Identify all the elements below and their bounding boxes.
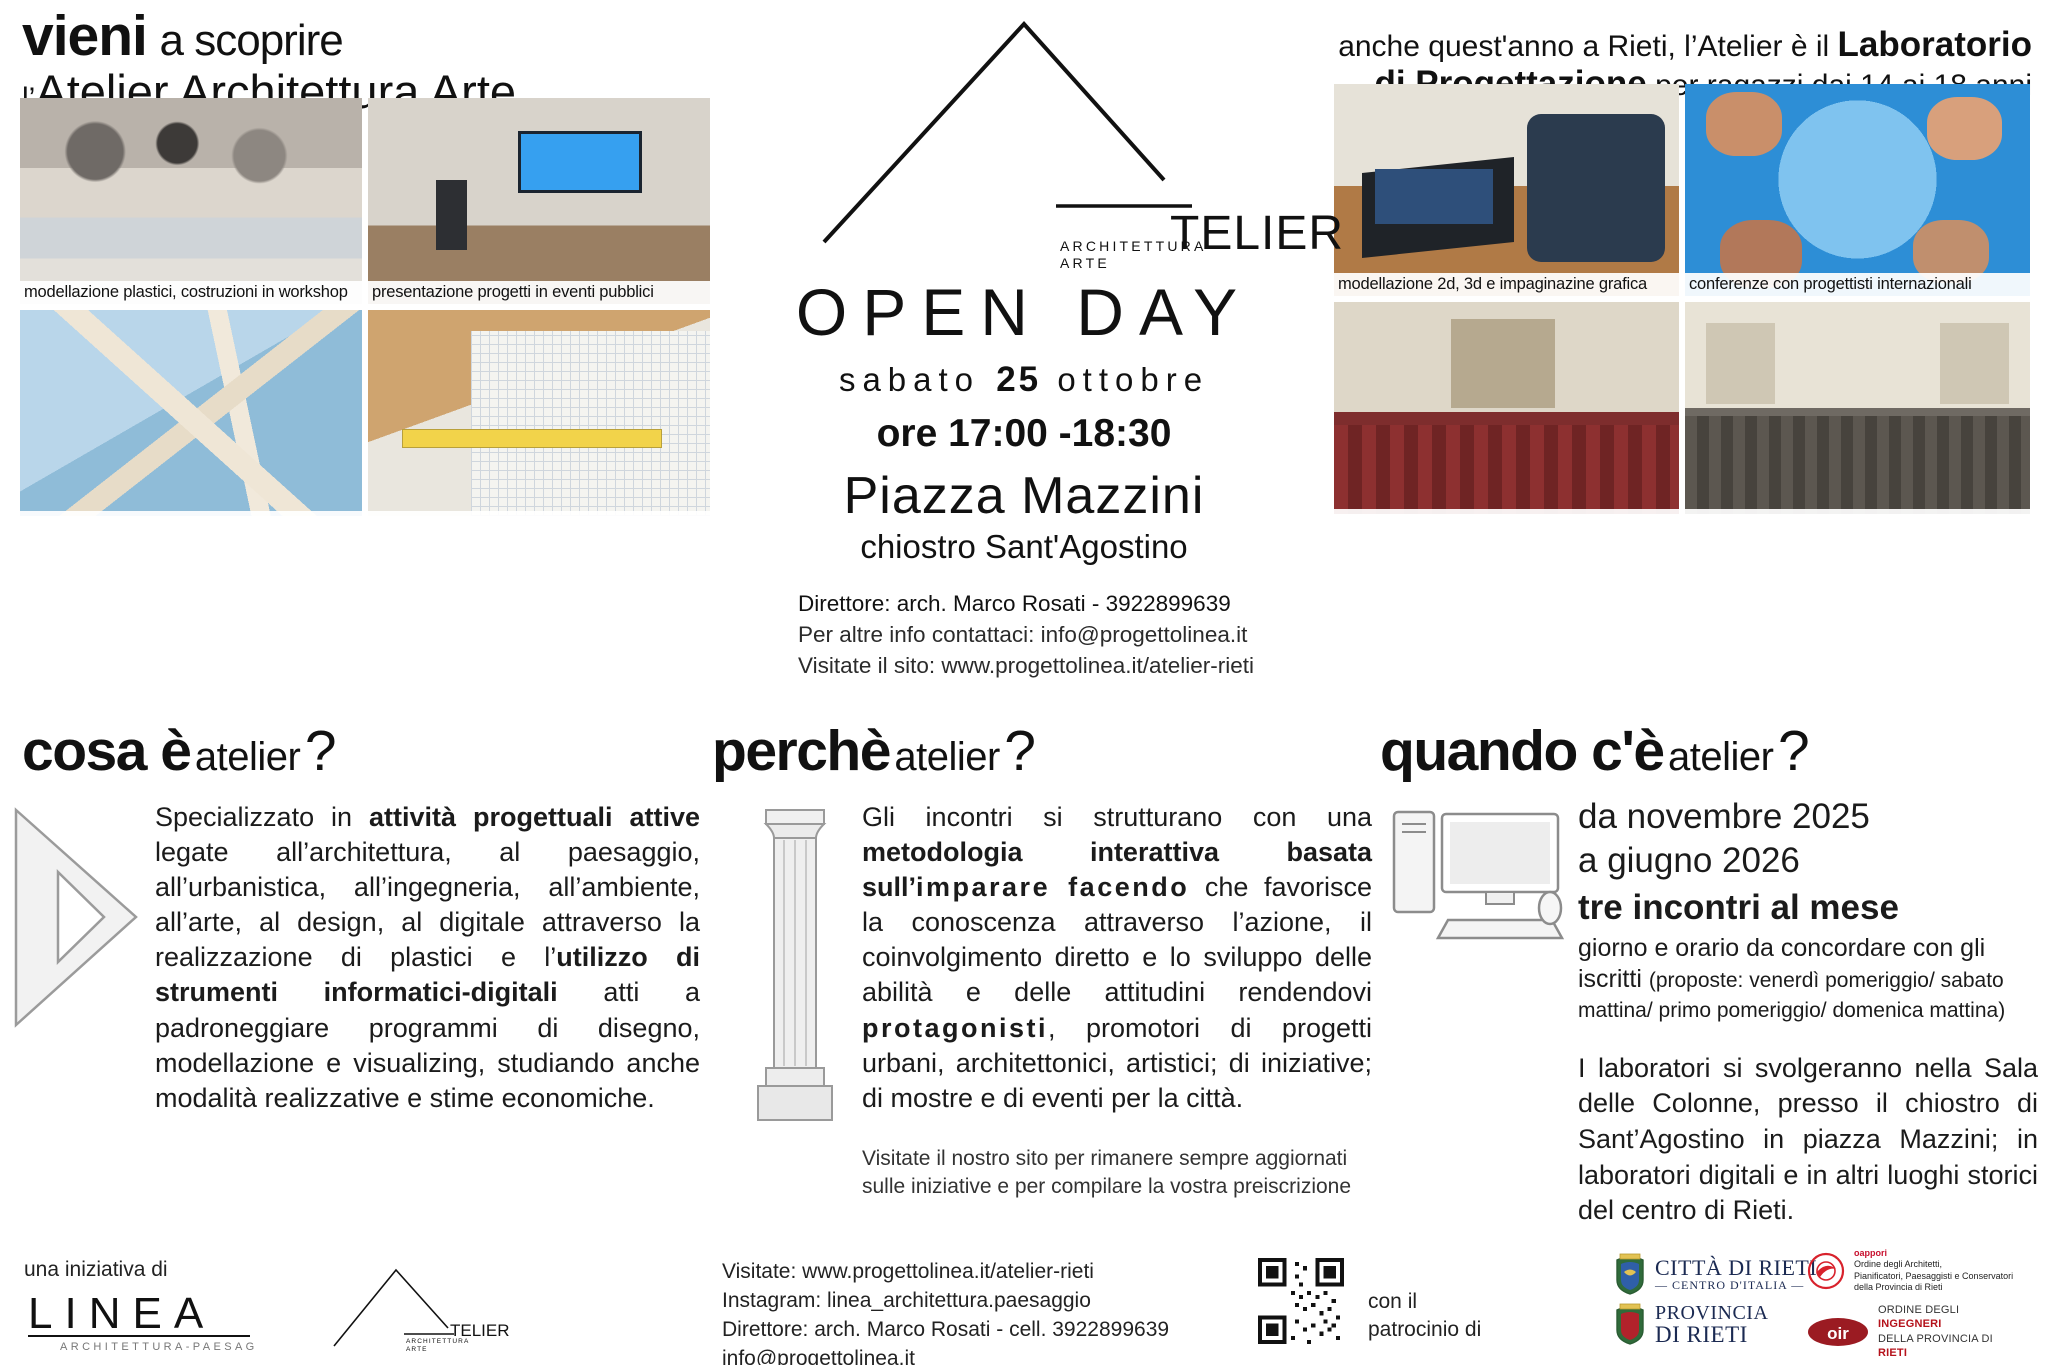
- column-perche-body: Gli incontri si strutturano con una meto…: [862, 800, 1372, 1116]
- photo-grid-left: modellazione plastici, costruzioni in wo…: [20, 98, 710, 516]
- center-contact-director: Direttore: arch. Marco Rosati - 39228996…: [798, 588, 1348, 619]
- footer-website: Visitate: www.progettolinea.it/atelier-r…: [722, 1258, 1169, 1287]
- atelier-logo-wordmark: TELIER: [1170, 206, 1344, 261]
- citta-logo-line-2: — CENTRO D'ITALIA —: [1655, 1279, 1817, 1291]
- provincia-logo-line-1: PROVINCIA: [1655, 1303, 1768, 1323]
- c3-period-line-1: da novembre 2025: [1578, 795, 2038, 839]
- svg-text:ARCHITETTURA-PAESAGGIO: ARCHITETTURA-PAESAGGIO: [60, 1341, 254, 1353]
- photo-conference-hall: [1685, 302, 2030, 514]
- section-heading-question-mark: ?: [1778, 719, 1810, 783]
- section-heading-big: quando c'è: [1380, 719, 1664, 783]
- footer-email: info@progettolinea.it: [722, 1345, 1169, 1365]
- svg-text:ARCHITETTURA: ARCHITETTURA: [406, 1338, 469, 1345]
- photo-caption: [368, 511, 710, 516]
- section-heading-question-mark: ?: [305, 719, 337, 783]
- headline-right-bold-1: Laboratorio: [1838, 25, 2032, 64]
- footer-contacts: Visitate: www.progettolinea.it/atelier-r…: [722, 1258, 1169, 1365]
- citta-crest-icon: [1613, 1252, 1647, 1296]
- column-quando-body: da novembre 2025 a giugno 2026 tre incon…: [1578, 795, 2038, 1229]
- section-heading-question-mark: ?: [1004, 719, 1036, 783]
- headline-left-bold: vieni: [22, 4, 147, 68]
- photo-caption: [20, 511, 362, 516]
- professional-order-logos: oappori Ordine degli Architetti, Pianifi…: [1806, 1248, 2013, 1365]
- c1-b1: attività progettuali attive: [369, 802, 700, 832]
- architetti-line-1: Ordine degli Architetti,: [1854, 1259, 2013, 1270]
- c2-b2: imparare facendo: [916, 872, 1189, 902]
- footer-director: Direttore: arch. Marco Rosati - cell. 39…: [722, 1316, 1169, 1345]
- qr-code[interactable]: [1258, 1258, 1344, 1349]
- section-heading-quando: quando c'è atelier ?: [1380, 718, 1810, 784]
- ingegneri-line-1: ORDINE DEGLI: [1878, 1303, 1993, 1317]
- patrocinio-label: con il patrocinio di: [1368, 1288, 1481, 1345]
- event-date-month: ottobre: [1057, 361, 1209, 398]
- event-date: sabato 25 ottobre: [700, 360, 1348, 400]
- headline-left-rest: a scoprire: [160, 16, 343, 65]
- event-time: ore 17:00 -18:30: [700, 412, 1348, 456]
- footer-instagram: Instagram: linea_architettura.paesaggio: [722, 1287, 1169, 1316]
- ingegneri-line-4: RIETI: [1878, 1346, 1993, 1360]
- event-date-day: 25: [996, 360, 1041, 399]
- photo-2d-3d-modelling: modellazione 2d, 3d e impaginazine grafi…: [1334, 84, 1679, 296]
- atelier-logo-footer: TELIER ARCHITETTURA ARTE: [320, 1262, 520, 1359]
- column-perche-note: Visitate il nostro sito per rimanere sem…: [862, 1145, 1372, 1200]
- center-contact-email: Per altre info contattaci: info@progetto…: [798, 619, 1348, 650]
- section-heading-cosa: cosa è atelier ?: [22, 718, 337, 784]
- desktop-computer-icon: [1390, 800, 1570, 965]
- photo-caption: [1334, 509, 1679, 514]
- section-heading-mid: atelier: [1668, 735, 1773, 779]
- svg-text:oir: oir: [1827, 1324, 1849, 1343]
- c3-venue: I laboratori si svolgeranno nella Sala d…: [1578, 1051, 2038, 1229]
- section-heading-mid: atelier: [195, 735, 300, 779]
- architetti-mark-icon: [1806, 1251, 1846, 1291]
- citta-logo-line-1: CITTÀ DI RIETI: [1655, 1257, 1817, 1279]
- poster-root: vieni a scoprire l’Atelier Architettura …: [0, 0, 2048, 1365]
- photo-caption: [1685, 509, 2030, 514]
- institution-logos: CITTÀ DI RIETI — CENTRO D'ITALIA — PROVI…: [1613, 1252, 1817, 1352]
- ingegneri-line-2: INGEGNERI: [1878, 1317, 1993, 1331]
- photo-structure-construction: [20, 310, 362, 516]
- photo-auditorium-organ: [1334, 302, 1679, 514]
- photo-caption: modellazione plastici, costruzioni in wo…: [20, 281, 362, 304]
- architetti-line-2: Pianificatori, Paesaggisti e Conservator…: [1854, 1271, 2013, 1282]
- provincia-crest-icon: [1613, 1302, 1647, 1346]
- patrocinio-line-1: con il: [1368, 1288, 1481, 1316]
- provincia-di-rieti-logo: PROVINCIA DI RIETI: [1613, 1302, 1817, 1346]
- linea-logo-block: una iniziativa di LINEA ARCHITETTURA-PAE…: [24, 1258, 264, 1359]
- photo-public-presentation: presentazione progetti in eventi pubblic…: [368, 98, 710, 304]
- photo-grid-right: modellazione 2d, 3d e impaginazine grafi…: [1334, 84, 2030, 514]
- provincia-logo-line-2: DI RIETI: [1655, 1323, 1768, 1346]
- architetti-line-3: della Provincia di Rieti: [1854, 1282, 2013, 1293]
- svg-text:ARTE: ARTE: [406, 1346, 428, 1353]
- initiative-label: una iniziativa di: [24, 1258, 264, 1282]
- atelier-logo: ARCHITETTURA ARTE TELIER: [794, 10, 1254, 272]
- triangle-arrow-icon: [8, 800, 143, 1040]
- ordine-architetti-logo: oappori Ordine degli Architetti, Pianifi…: [1806, 1248, 2013, 1293]
- center-contact-website: Visitate il sito: www.progettolinea.it/a…: [798, 650, 1348, 681]
- center-event-block: ARCHITETTURA ARTE TELIER OPEN DAY sabato…: [700, 0, 1348, 681]
- citta-di-rieti-logo: CITTÀ DI RIETI — CENTRO D'ITALIA —: [1613, 1252, 1817, 1296]
- ingegneri-mark-icon: oir: [1806, 1315, 1870, 1349]
- event-date-prefix: sabato: [839, 361, 980, 398]
- ordine-ingegneri-logo: oir ORDINE DEGLI INGEGNERI DELLA PROVINC…: [1806, 1303, 2013, 1360]
- photo-caption: modellazione 2d, 3d e impaginazine grafi…: [1334, 273, 1679, 296]
- event-place-sub: chiostro Sant'Agostino: [700, 528, 1348, 566]
- c3-frequency: tre incontri al mese: [1578, 887, 2038, 930]
- architetti-small-mark: oappori: [1854, 1248, 1887, 1258]
- ingegneri-line-3: DELLA PROVINCIA DI: [1878, 1332, 1993, 1346]
- photo-group-sky: conferenze con progettisti internazional…: [1685, 84, 2030, 296]
- c2-b3: protagonisti: [862, 1013, 1048, 1043]
- section-heading-big: perchè: [712, 719, 890, 783]
- open-day-title: OPEN DAY: [700, 274, 1348, 350]
- atelier-triangle-icon-small: TELIER ARCHITETTURA ARTE: [320, 1262, 520, 1354]
- photo-caption: conferenze con progettisti internazional…: [1685, 273, 2030, 296]
- classical-column-icon: [740, 800, 850, 1135]
- c2-note: Visitate il nostro sito per rimanere sem…: [862, 1145, 1372, 1200]
- patrocinio-line-2: patrocinio di: [1368, 1316, 1481, 1344]
- c3-period-line-2: a giugno 2026: [1578, 839, 2038, 883]
- headline-right-plain-1: anche quest'anno a Rieti, l’Atelier è il: [1338, 30, 1837, 63]
- linea-logo-icon: LINEA ARCHITETTURA-PAESAGGIO: [24, 1284, 254, 1354]
- column-cosa-body: Specializzato in attività progettuali at…: [155, 800, 700, 1116]
- section-heading-big: cosa è: [22, 719, 190, 783]
- c1-t1: Specializzato in: [155, 802, 369, 832]
- section-heading-mid: atelier: [894, 735, 999, 779]
- center-contacts: Direttore: arch. Marco Rosati - 39228996…: [700, 588, 1348, 681]
- photo-workshop-modelling: modellazione plastici, costruzioni in wo…: [20, 98, 362, 304]
- photo-caption: presentazione progetti in eventi pubblic…: [368, 281, 710, 304]
- section-heading-perche: perchè atelier ?: [712, 718, 1036, 784]
- event-place: Piazza Mazzini: [700, 466, 1348, 526]
- photo-technical-drawing: [368, 310, 710, 516]
- svg-text:LINEA: LINEA: [28, 1289, 215, 1338]
- c2-t1: Gli incontri si strutturano con una: [862, 802, 1372, 832]
